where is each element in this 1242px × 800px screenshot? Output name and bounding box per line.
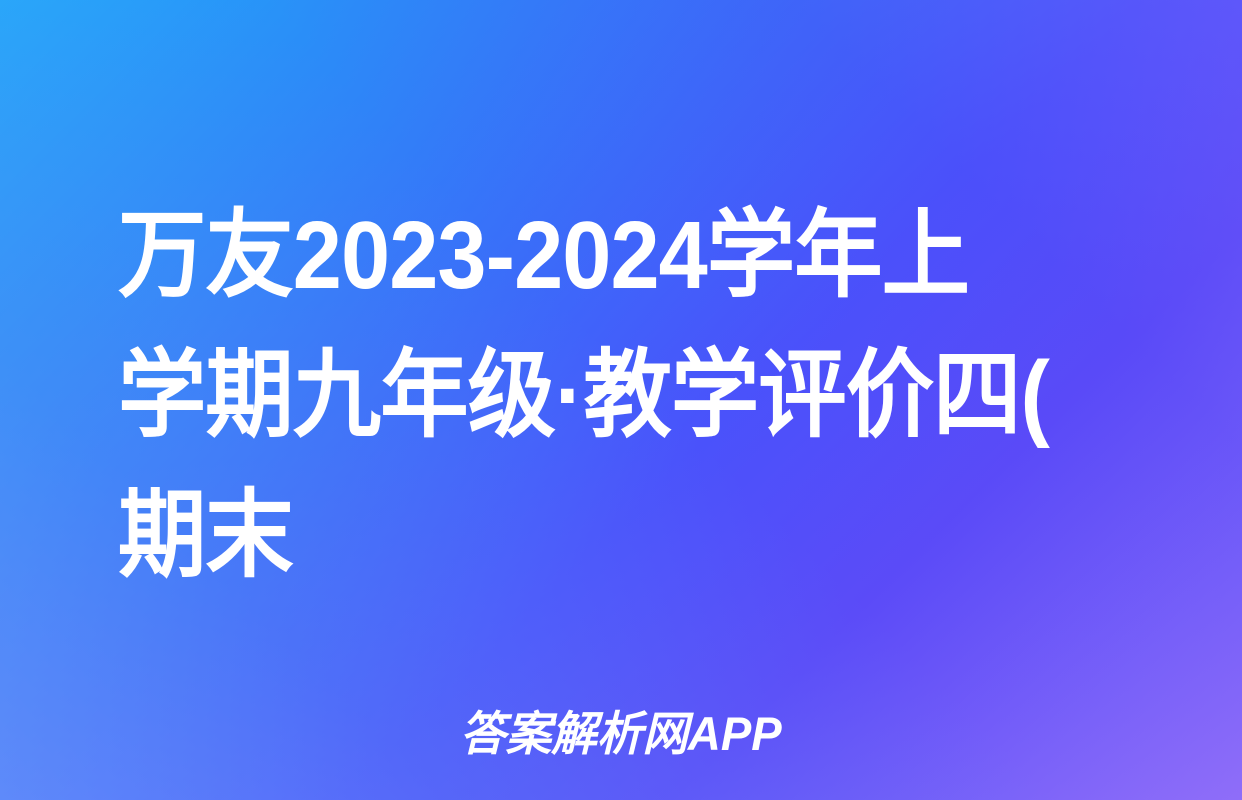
title-line-1: 万友2023-2024学年上 bbox=[118, 186, 1075, 326]
watermark-label: 答案解析网APP bbox=[460, 706, 782, 762]
title-line-2: 学期九年级·教学评价四( bbox=[118, 326, 1075, 466]
banner-content-layer: 万友2023-2024学年上 学期九年级·教学评价四( 期末 答案解析网APP bbox=[0, 0, 1242, 800]
page-title: 万友2023-2024学年上 学期九年级·教学评价四( 期末 bbox=[118, 186, 1158, 606]
watermark: 答案解析网APP bbox=[0, 706, 1242, 762]
title-line-3: 期末 bbox=[118, 466, 1075, 606]
cover-banner: 万友2023-2024学年上 学期九年级·教学评价四( 期末 答案解析网APP bbox=[0, 0, 1242, 800]
